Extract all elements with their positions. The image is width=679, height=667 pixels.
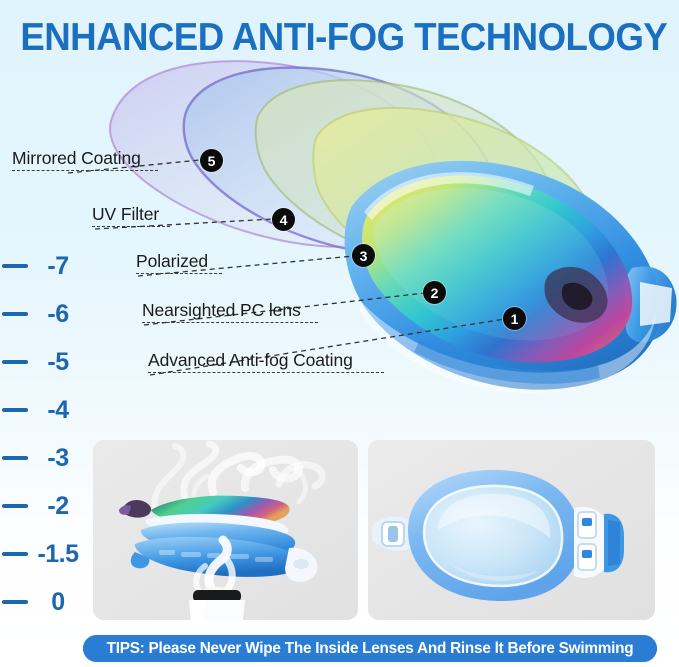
callout-advanced-anti-fog-coating: Advanced Anti-fog Coating [148,350,384,373]
callout-uv-filter: UV Filter [92,204,170,227]
inside-lens-closeup-photo [368,440,655,620]
tips-banner: TIPS: Please Never Wipe The Inside Lense… [83,635,657,662]
infographic-canvas: ENHANCED ANTI-FOG TECHNOLOGY [0,0,679,667]
callout-label: Advanced Anti-fog Coating [148,350,384,370]
diopter-dash-icon [2,456,28,460]
diopter-row: -3 [0,445,92,471]
diopter-dash-icon [2,504,28,508]
badge-5: 5 [200,149,223,172]
callout-underline [142,322,318,323]
badge-4: 4 [272,208,295,231]
badge-2: 2 [423,281,446,304]
callout-label: Mirrored Coating [12,148,158,168]
callout-label: Nearsighted PC lens [142,300,318,320]
callout-underline [92,226,170,227]
diopter-value: -2 [28,492,92,521]
diopter-row: -1.5 [0,541,92,567]
callout-underline [12,170,158,171]
callout-underline [136,273,222,274]
diopter-dash-icon [2,552,28,556]
diopter-value: -3 [28,444,92,473]
callout-underline [148,372,384,373]
diopter-value: 0 [28,588,92,617]
callout-label: Polarized [136,251,222,271]
callout-label: UV Filter [92,204,170,224]
callout-mirrored-coating: Mirrored Coating [12,148,158,171]
diopter-value: -1.5 [28,540,92,569]
diopter-row: -2 [0,493,92,519]
badge-1: 1 [503,307,526,330]
callout-nearsighted-pc-lens: Nearsighted PC lens [142,300,318,323]
callout-polarized: Polarized [136,251,222,274]
diopter-dash-icon [2,600,28,604]
diopter-row: 0 [0,589,92,615]
anti-fog-steam-test-photo [93,440,358,620]
badge-3: 3 [352,244,375,267]
